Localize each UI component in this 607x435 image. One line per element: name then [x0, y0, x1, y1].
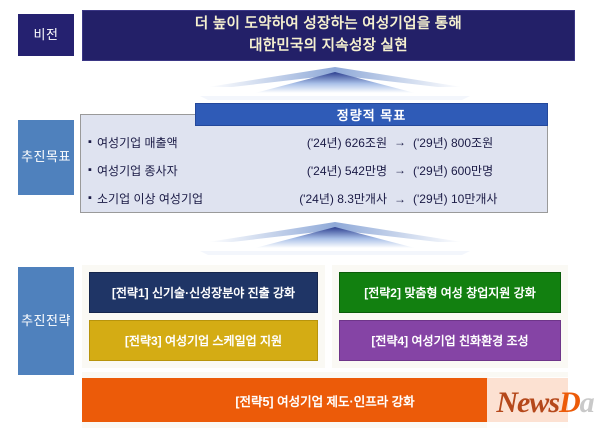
goal-row: ▪ 여성기업 매출액 ('24년) 626조원 → ('29년) 800조원: [88, 134, 542, 151]
watermark-text-news: News: [496, 386, 559, 420]
vision-line-2: 대한민국의 지속성장 실현: [195, 36, 462, 58]
strategy-4-box[interactable]: [전략4] 여성기업 친화환경 조성: [339, 320, 561, 361]
newsda-watermark: News D a: [487, 377, 603, 429]
goal-baseline-value: ('24년) 8.3만개사: [265, 190, 387, 207]
goal-name: 소기업 이상 여성기업: [97, 190, 265, 207]
strategy-column-left: [전략1] 신기술·신성장분야 진출 강화 [전략3] 여성기업 스케일업 지원: [82, 265, 325, 368]
goal-row: ▪ 소기업 이상 여성기업 ('24년) 8.3만개사 → ('29년) 10만…: [88, 190, 542, 207]
goal-label-text: 추진목표: [21, 149, 71, 165]
vision-line-1: 더 높이 도약하여 성장하는 여성기업을 통해: [195, 14, 462, 36]
goal-target-value: ('29년) 10만개사: [413, 190, 533, 207]
goal-name: 여성기업 종사자: [97, 162, 265, 179]
arrow-right-icon: →: [387, 135, 413, 149]
goal-target-value: ('29년) 800조원: [413, 134, 533, 151]
strategy-label: 추진전략: [18, 267, 74, 375]
watermark-text-a: a: [580, 386, 594, 420]
goal-label: 추진목표: [18, 120, 74, 195]
goal-baseline-value: ('24년) 542만명: [265, 162, 387, 179]
arrow-right-icon: →: [387, 192, 413, 206]
strategy-column-right: [전략2] 맞춤형 여성 창업지원 강화 [전략4] 여성기업 친화환경 조성: [332, 265, 568, 368]
bullet-icon: ▪: [88, 165, 97, 176]
goal-panel-header: 정량적 목표: [195, 103, 548, 126]
bullet-icon: ▪: [88, 193, 97, 204]
vision-statement-bar: 더 높이 도약하여 성장하는 여성기업을 통해 대한민국의 지속성장 실현: [82, 10, 575, 61]
strategy-1-box[interactable]: [전략1] 신기술·신성장분야 진출 강화: [89, 272, 318, 313]
watermark-text-d: D: [559, 386, 580, 420]
goal-list: ▪ 여성기업 매출액 ('24년) 626조원 → ('29년) 800조원 ▪…: [80, 128, 548, 213]
bullet-icon: ▪: [88, 137, 97, 148]
strategy-diagram: 비전 더 높이 도약하여 성장하는 여성기업을 통해 대한민국의 지속성장 실현…: [0, 0, 607, 435]
strategy-2-box[interactable]: [전략2] 맞춤형 여성 창업지원 강화: [339, 272, 561, 313]
chevron-down-icon: [200, 218, 470, 258]
vision-label: 비전: [18, 14, 74, 56]
goal-baseline-value: ('24년) 626조원: [265, 134, 387, 151]
goal-row: ▪ 여성기업 종사자 ('24년) 542만명 → ('29년) 600만명: [88, 162, 542, 179]
chevron-down-icon: [200, 63, 470, 103]
goal-name: 여성기업 매출액: [97, 134, 265, 151]
strategy-label-text: 추진전략: [21, 313, 71, 329]
strategy-3-box[interactable]: [전략3] 여성기업 스케일업 지원: [89, 320, 318, 361]
goal-target-value: ('29년) 600만명: [413, 162, 533, 179]
arrow-right-icon: →: [387, 163, 413, 177]
